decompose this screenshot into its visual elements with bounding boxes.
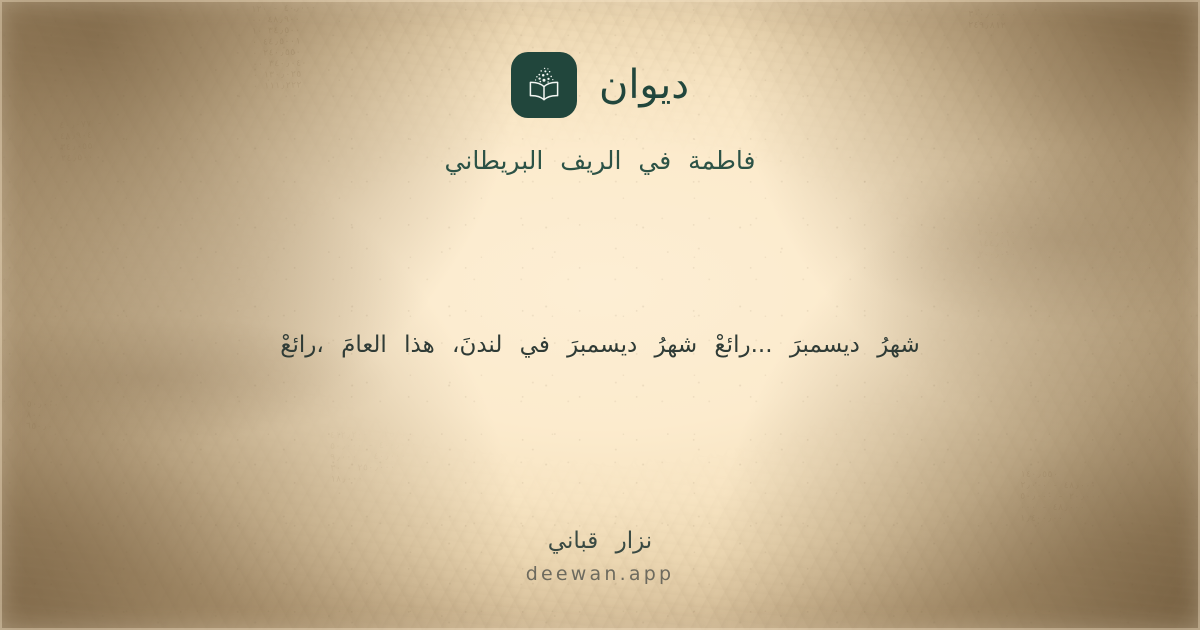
open-book-sparkles-icon bbox=[511, 52, 577, 118]
poem-author: نزار قباني bbox=[548, 528, 652, 556]
brand-header: ديوان bbox=[511, 52, 689, 118]
site-url: deewan.app bbox=[526, 563, 674, 586]
poem-verse: شهرُ ديسمبرَ ...رائعْ شهرُ ديسمبرَ في لن… bbox=[280, 326, 920, 365]
brand-name: ديوان bbox=[599, 65, 689, 105]
poster-footer: نزار قباني deewan.app bbox=[526, 528, 674, 586]
poem-verse-area: شهرُ ديسمبرَ ...رائعْ شهرُ ديسمبرَ في لن… bbox=[0, 164, 1200, 528]
poem-poster-card: ٤٠٫٠٠٠ - ١٢٠ ٤٨٫٩٠٠ ٠٠ ٣٤٫٥٠٠ ١٠ ٤٤٫٥٠٠١… bbox=[0, 0, 1200, 630]
poster-content: ديوان فاطمة في الريف البريطاني شهرُ ديسم… bbox=[0, 0, 1200, 630]
